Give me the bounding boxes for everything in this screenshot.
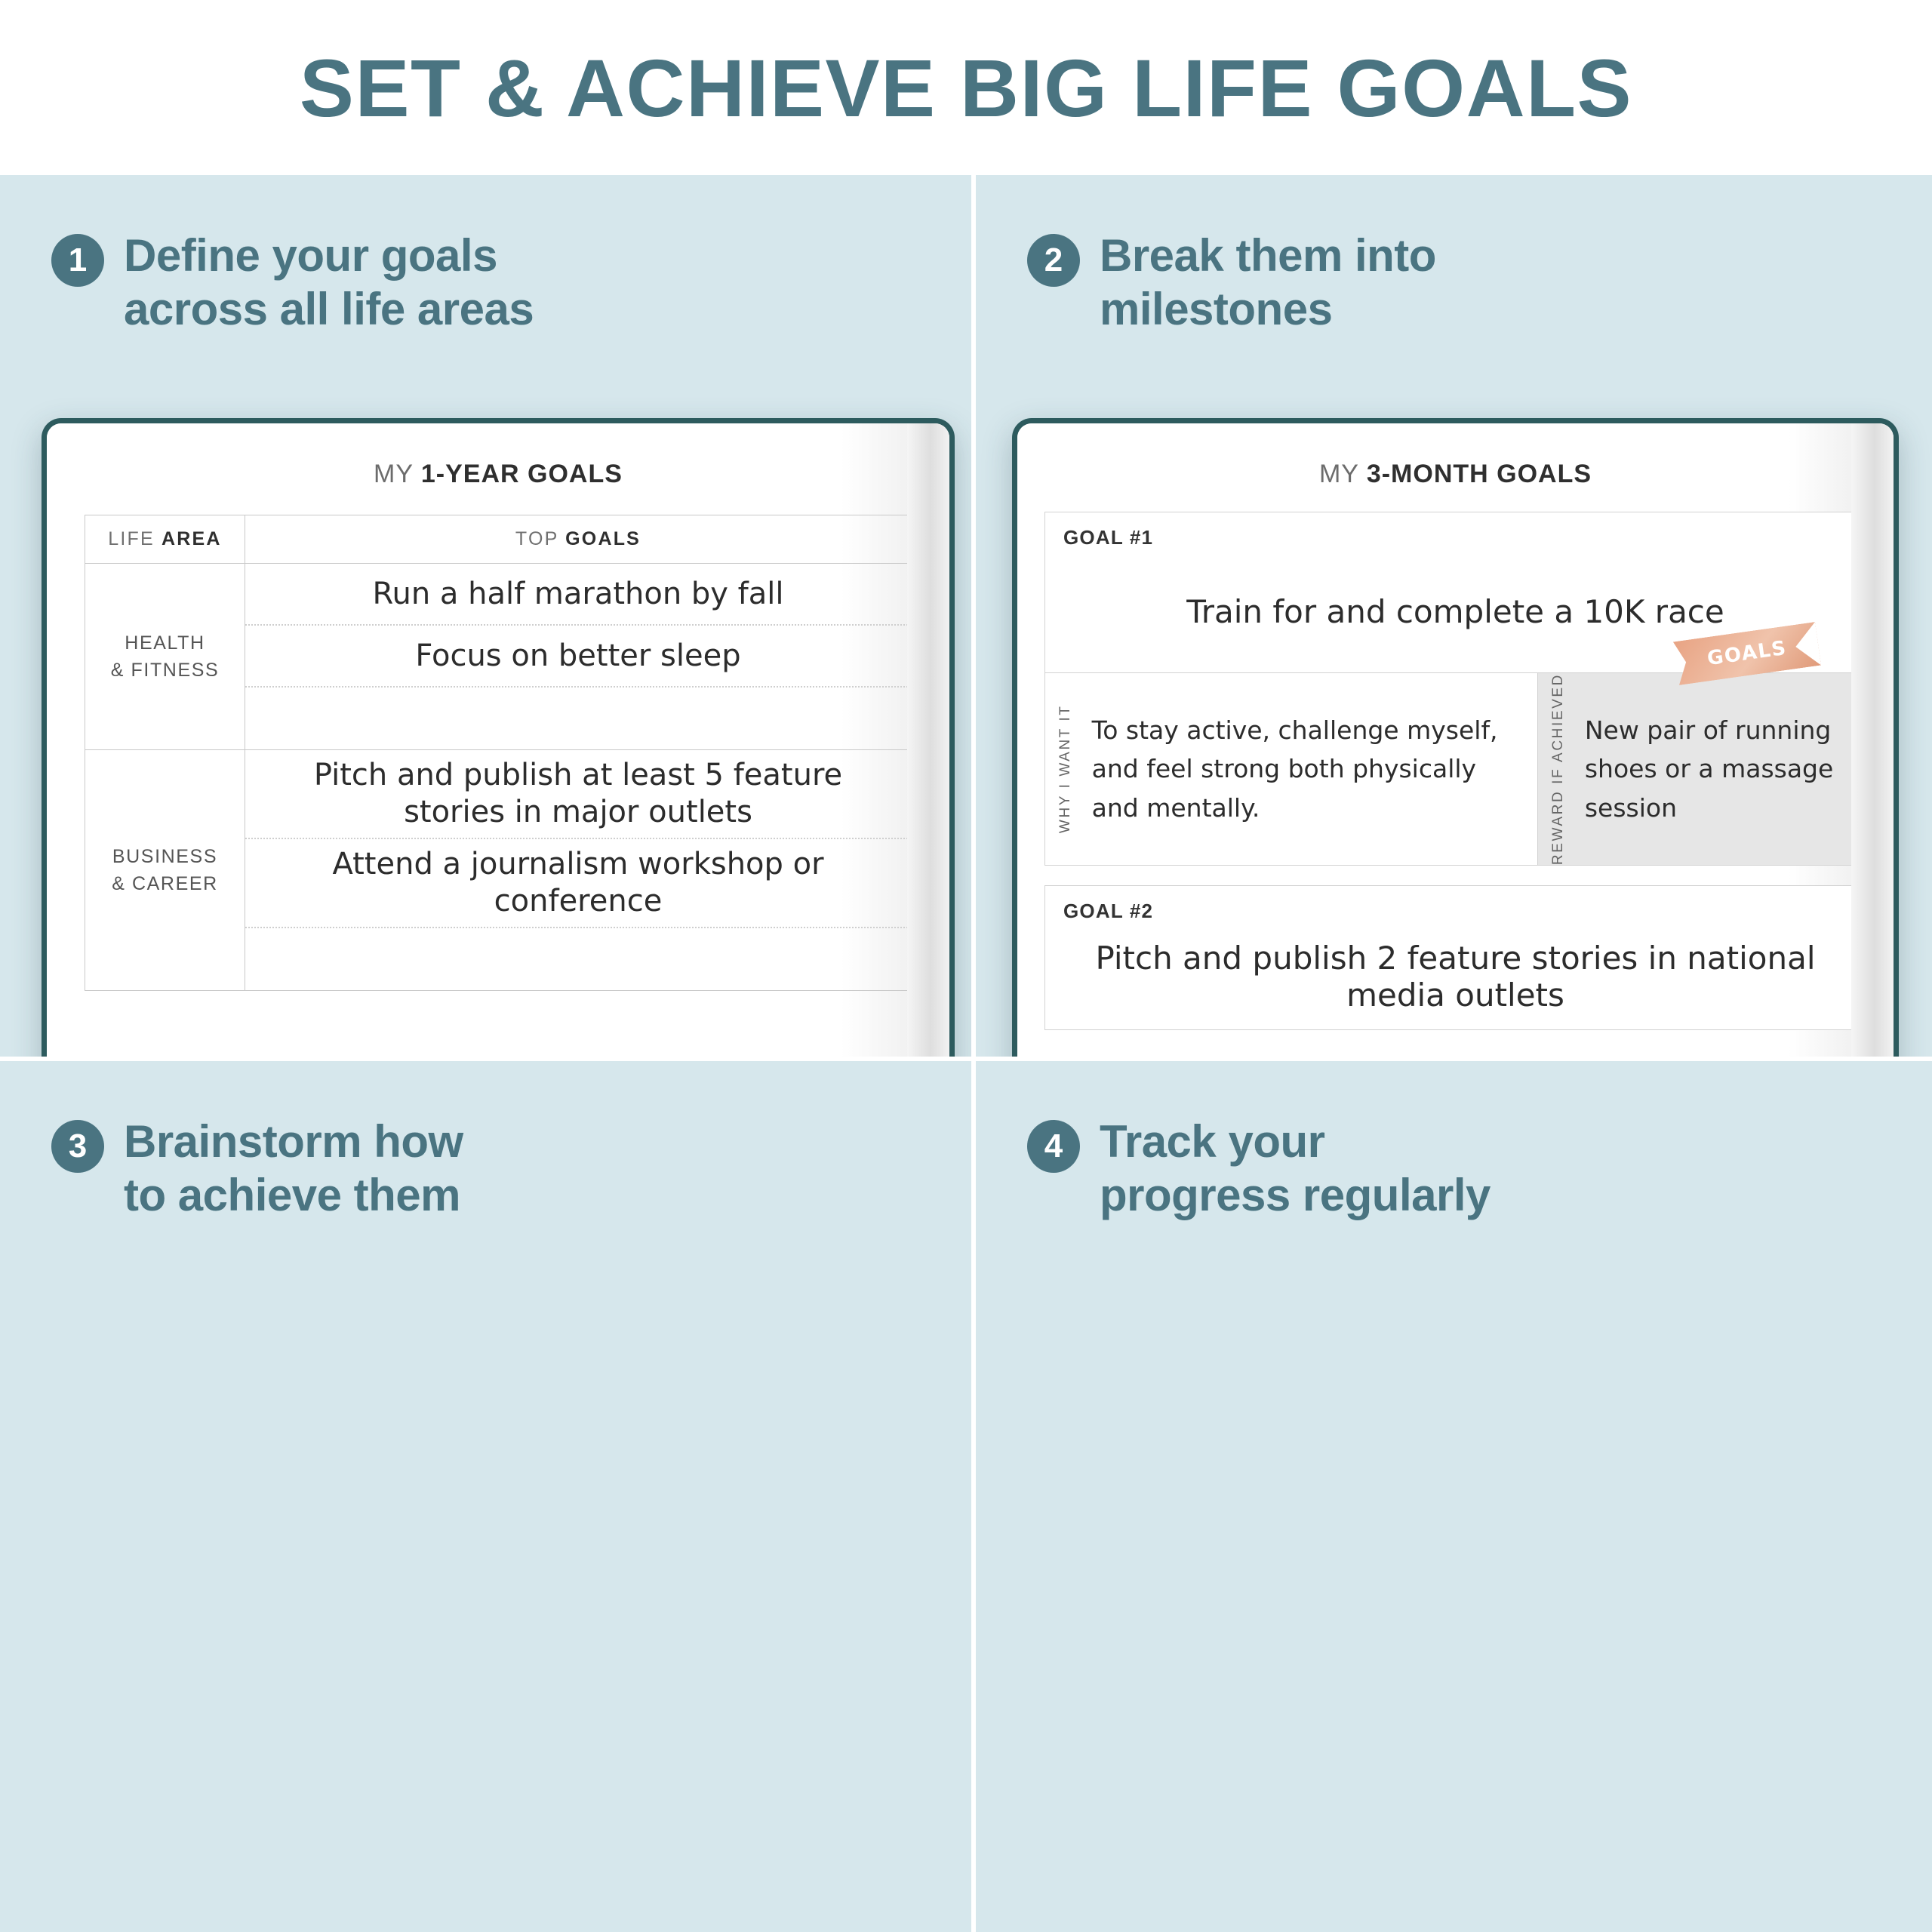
column-header-top-goals: TOP GOALS: [245, 515, 912, 564]
goal-1-details: WHY I WANT IT To stay active, challenge …: [1045, 672, 1866, 865]
panel-track-progress: 4 Track your progress regularly MONTHLY …: [976, 1061, 1932, 1932]
panel-break-into-milestones: 2 Break them into milestones MY 3-MONTH …: [976, 175, 1932, 1057]
panel-4-heading: 4 Track your progress regularly: [1027, 1115, 1491, 1223]
panel-2-heading: 2 Break them into milestones: [1027, 229, 1436, 337]
goal-entry[interactable]: Focus on better sleep: [245, 626, 911, 688]
goal-card-2: GOAL #2 Pitch and publish 2 feature stor…: [1044, 885, 1866, 1030]
table-header-row: LIFE AREA TOP GOALS: [85, 515, 912, 564]
panel-3-title: Brainstorm how to achieve them: [124, 1115, 463, 1223]
sheet-title-1year: MY 1-YEAR GOALS: [47, 460, 949, 489]
goal-1-value: Train for and complete a 10K race: [1186, 593, 1724, 630]
steps-grid: 1 Define your goals across all life area…: [0, 175, 1932, 1932]
panel-1-title: Define your goals across all life areas: [124, 229, 534, 337]
goal-entry[interactable]: [245, 688, 911, 749]
page-edge: [907, 423, 949, 1057]
panel-brainstorm: 3 Brainstorm how to achieve them MY MIND…: [0, 1061, 971, 1932]
why-i-want-it-cell: WHY I WANT IT To stay active, challenge …: [1045, 673, 1537, 865]
goal-entry[interactable]: Attend a journalism workshop or conferen…: [245, 839, 911, 928]
panel-define-goals: 1 Define your goals across all life area…: [0, 175, 971, 1057]
step-number-badge: 1: [51, 234, 104, 287]
panel-1-heading: 1 Define your goals across all life area…: [51, 229, 534, 337]
col-life-bold: AREA: [162, 528, 222, 549]
page-header: SET & ACHIEVE BIG LIFE GOALS: [0, 0, 1932, 175]
goal-1-text[interactable]: Train for and complete a 10K race GOALS: [1045, 512, 1866, 672]
column-header-life-area: LIFE AREA: [85, 515, 245, 564]
life-area-health: HEALTH & FITNESS: [85, 564, 245, 750]
notebook-3-month-goals: MY 3-MONTH GOALS GOAL #1 Train for and c…: [1012, 418, 1899, 1057]
goals-table: LIFE AREA TOP GOALS HEALTH & FITNESS Run…: [85, 515, 912, 991]
why-i-want-it-label: WHY I WANT IT: [1045, 673, 1086, 865]
notebook-page: MY 3-MONTH GOALS GOAL #1 Train for and c…: [1017, 423, 1894, 1057]
life-area-business: BUSINESS & CAREER: [85, 750, 245, 991]
goal-card-1: GOAL #1 Train for and complete a 10K rac…: [1044, 512, 1866, 866]
step-number-badge: 4: [1027, 1120, 1080, 1173]
notebook-page: MY 1-YEAR GOALS LIFE AREA TOP GOALS: [47, 423, 949, 1057]
sheet-title-main: 3-MONTH GOALS: [1367, 460, 1592, 488]
goal-2-text[interactable]: Pitch and publish 2 feature stories in n…: [1045, 886, 1866, 1029]
sheet-title-3month: MY 3-MONTH GOALS: [1017, 460, 1894, 489]
panel-2-title: Break them into milestones: [1100, 229, 1436, 337]
reward-if-achieved-text[interactable]: New pair of running shoes or a massage s…: [1579, 673, 1866, 865]
goals-cell-health: Run a half marathon by fall Focus on bet…: [245, 564, 912, 750]
sheet-title-main: 1-YEAR GOALS: [421, 460, 623, 488]
why-i-want-it-text[interactable]: To stay active, challenge myself, and fe…: [1086, 673, 1538, 865]
table-row: BUSINESS & CAREER Pitch and publish at l…: [85, 750, 912, 991]
page-title: SET & ACHIEVE BIG LIFE GOALS: [300, 41, 1632, 135]
col-goals-light: TOP: [515, 528, 565, 549]
col-life-light: LIFE: [108, 528, 162, 549]
goal-entry[interactable]: [245, 928, 911, 990]
goals-cell-business: Pitch and publish at least 5 feature sto…: [245, 750, 912, 991]
col-goals-bold: GOALS: [565, 528, 641, 549]
page-edge: [1851, 423, 1894, 1057]
goal-2-value: Pitch and publish 2 feature stories in n…: [1075, 940, 1835, 1014]
sheet-title-prefix: MY: [1319, 460, 1367, 488]
sheet-title-prefix: MY: [374, 460, 421, 488]
step-number-badge: 3: [51, 1120, 104, 1173]
goal-entry[interactable]: Pitch and publish at least 5 feature sto…: [245, 750, 911, 839]
goal-entry[interactable]: Run a half marathon by fall: [245, 564, 911, 626]
notebook-1-year-goals: MY 1-YEAR GOALS LIFE AREA TOP GOALS: [42, 418, 955, 1057]
panel-4-title: Track your progress regularly: [1100, 1115, 1491, 1223]
table-row: HEALTH & FITNESS Run a half marathon by …: [85, 564, 912, 750]
reward-if-achieved-cell: REWARD IF ACHIEVED New pair of running s…: [1537, 673, 1866, 865]
step-number-badge: 2: [1027, 234, 1080, 287]
reward-if-achieved-label: REWARD IF ACHIEVED: [1538, 673, 1579, 865]
panel-3-heading: 3 Brainstorm how to achieve them: [51, 1115, 463, 1223]
